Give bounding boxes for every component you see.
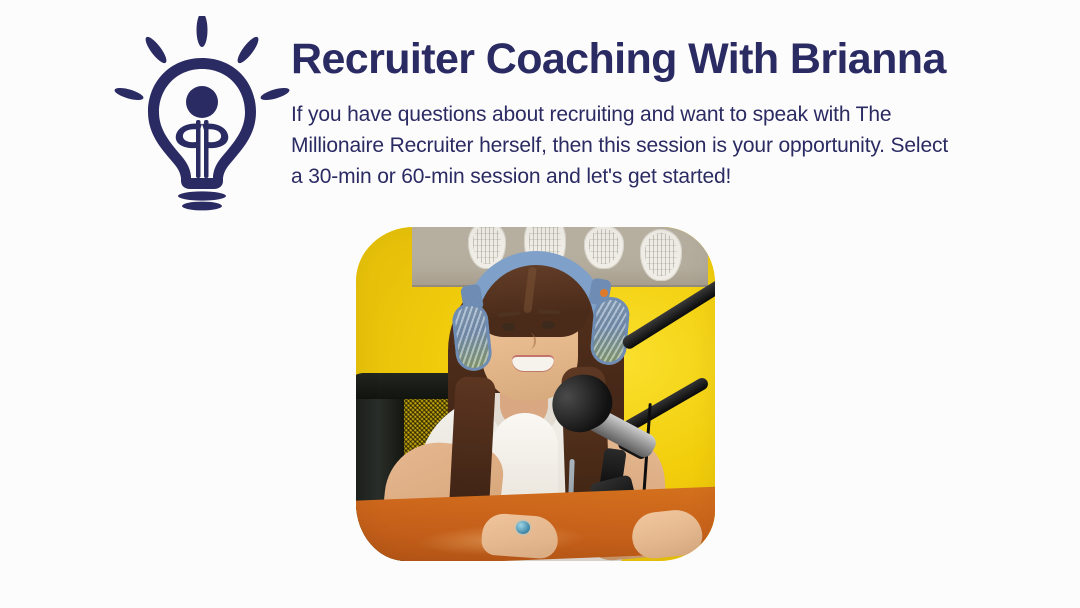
bulb-figure-stem-left [196, 120, 201, 178]
wall-art-oval [640, 229, 682, 281]
ray-right [259, 86, 290, 103]
wall-art-oval [584, 227, 624, 269]
headphone-accent-dot [600, 289, 608, 297]
bulb-base-line-1 [178, 191, 226, 200]
hero-photo-blob [356, 227, 715, 561]
bulb-figure-stem-right [204, 120, 209, 178]
header-section: Recruiter Coaching With Brianna If you h… [0, 0, 1080, 220]
ray-upper-right [234, 34, 261, 66]
bulb-figure-head [186, 86, 218, 118]
ray-upper-left [142, 34, 169, 66]
smile [512, 355, 554, 371]
lightbulb-idea-icon [112, 16, 292, 212]
hero-photo [356, 227, 715, 561]
page-title: Recruiter Coaching With Brianna [291, 38, 991, 81]
bulb-outline [148, 58, 256, 189]
page-root: Recruiter Coaching With Brianna If you h… [0, 0, 1080, 608]
bulb-base-line-2 [182, 202, 222, 211]
page-description: If you have questions about recruiting a… [291, 99, 953, 192]
header-text-block: Recruiter Coaching With Brianna If you h… [291, 38, 991, 192]
turquoise-ring [516, 521, 530, 534]
ray-top [197, 16, 208, 47]
ray-left [113, 86, 144, 103]
